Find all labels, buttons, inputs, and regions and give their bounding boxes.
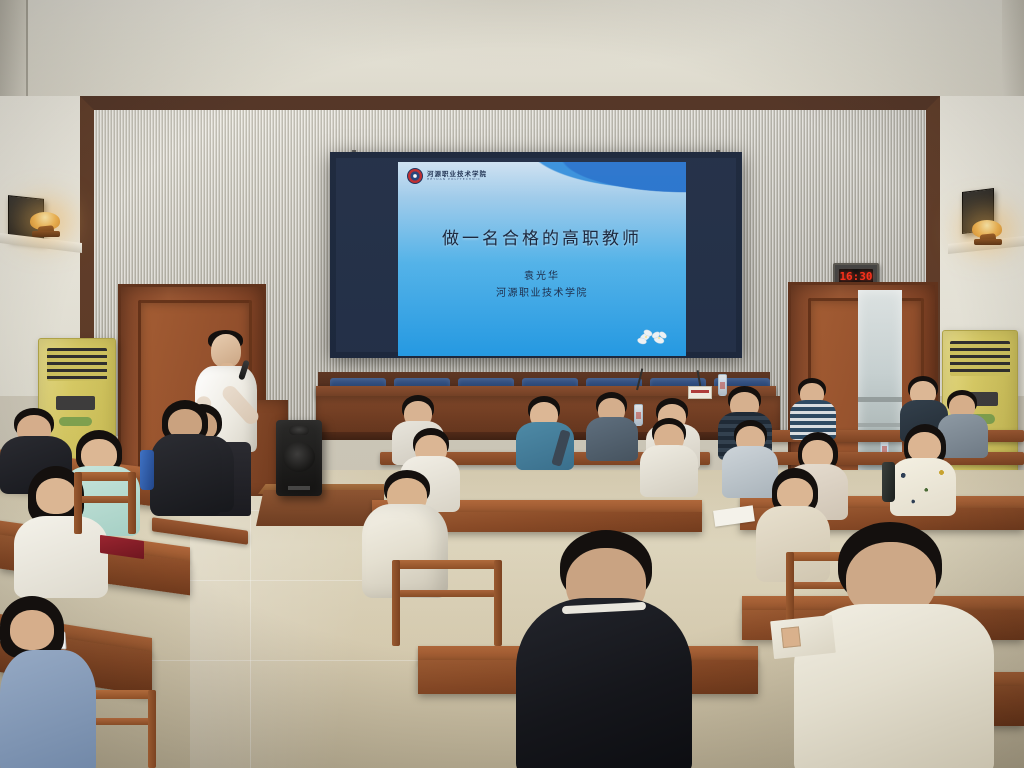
flower-decoration-icon bbox=[632, 326, 672, 348]
pa-speaker bbox=[276, 420, 322, 496]
chair-stile bbox=[128, 472, 136, 534]
chair-stile bbox=[74, 472, 82, 534]
photo-on-document bbox=[781, 626, 801, 648]
chair-stile bbox=[392, 560, 400, 646]
audience-member bbox=[516, 396, 574, 466]
lamp-base bbox=[974, 239, 1002, 245]
projection-screen: 河源职业技术学院 HEYUAN POLYTECHNIC 做一名合格的高职教师 袁… bbox=[330, 152, 742, 358]
lecture-hall-photo: 16:30 河源职业技术学院 HEYUAN POLYTECHNIC 做一名合格的… bbox=[0, 0, 1024, 768]
audience-member bbox=[586, 392, 638, 456]
ceiling-vent-left bbox=[0, 0, 28, 96]
blue-thermos bbox=[140, 450, 154, 490]
presentation-slide: 河源职业技术学院 HEYUAN POLYTECHNIC 做一名合格的高职教师 袁… bbox=[398, 162, 686, 356]
ceiling bbox=[0, 0, 1024, 104]
slide-title: 做一名合格的高职教师 bbox=[398, 224, 686, 249]
ac-grille bbox=[950, 341, 1009, 376]
speaker-brand bbox=[288, 486, 310, 490]
balcony-rail bbox=[858, 397, 902, 402]
clock-face: 16:30 bbox=[839, 269, 873, 283]
audience-member-foreground bbox=[0, 596, 96, 768]
logo-text-en: HEYUAN POLYTECHNIC bbox=[427, 178, 487, 181]
slide-wave-graphic bbox=[507, 162, 686, 228]
wall-lamp-right-icon bbox=[972, 220, 1002, 238]
chair-crest bbox=[392, 560, 502, 569]
audience-member bbox=[640, 418, 698, 492]
chair-slat bbox=[78, 496, 133, 503]
speaker-tweeter bbox=[289, 426, 309, 435]
audience-member-foreground bbox=[516, 530, 692, 768]
slide-presenter-name: 袁光华 bbox=[398, 267, 686, 282]
slide-institution: 河源职业技术学院 bbox=[398, 284, 686, 299]
black-thermos bbox=[882, 462, 895, 502]
chair[interactable] bbox=[392, 560, 502, 646]
institution-logo: 河源职业技术学院 HEYUAN POLYTECHNIC bbox=[407, 168, 487, 184]
audience-member bbox=[150, 400, 222, 504]
chair-stile bbox=[148, 690, 156, 768]
lamp-base bbox=[32, 231, 60, 237]
chair[interactable] bbox=[74, 472, 136, 534]
document-open bbox=[770, 615, 836, 659]
speaker-woofer bbox=[283, 442, 315, 472]
wall-lamp-left-icon bbox=[30, 212, 60, 230]
chair-stile bbox=[494, 560, 502, 646]
ac-grille bbox=[47, 348, 108, 381]
logo-emblem-icon bbox=[407, 168, 423, 184]
audience-member bbox=[790, 378, 836, 436]
clock-time: 16:30 bbox=[839, 271, 872, 282]
chair-crest bbox=[74, 472, 136, 481]
chair-slat bbox=[399, 590, 496, 597]
audience-member bbox=[890, 424, 956, 510]
